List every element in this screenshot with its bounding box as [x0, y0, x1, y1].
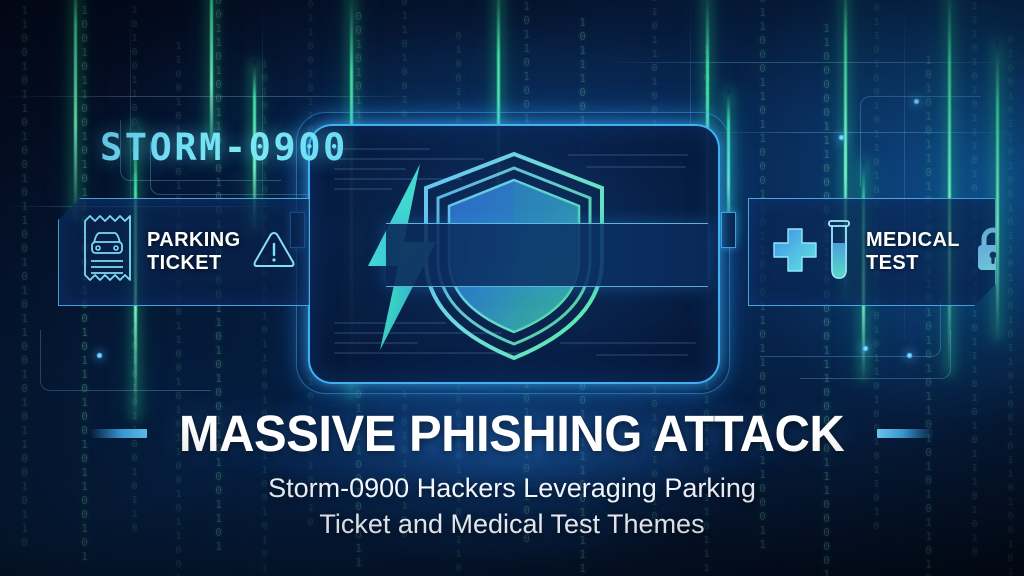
vignette-overlay	[0, 0, 1024, 576]
cybersecurity-news-graphic: 0 1 1 0 0 1 0 1 1 0 1 0 0 1 0 1 1 0 0 1 …	[0, 0, 1024, 576]
